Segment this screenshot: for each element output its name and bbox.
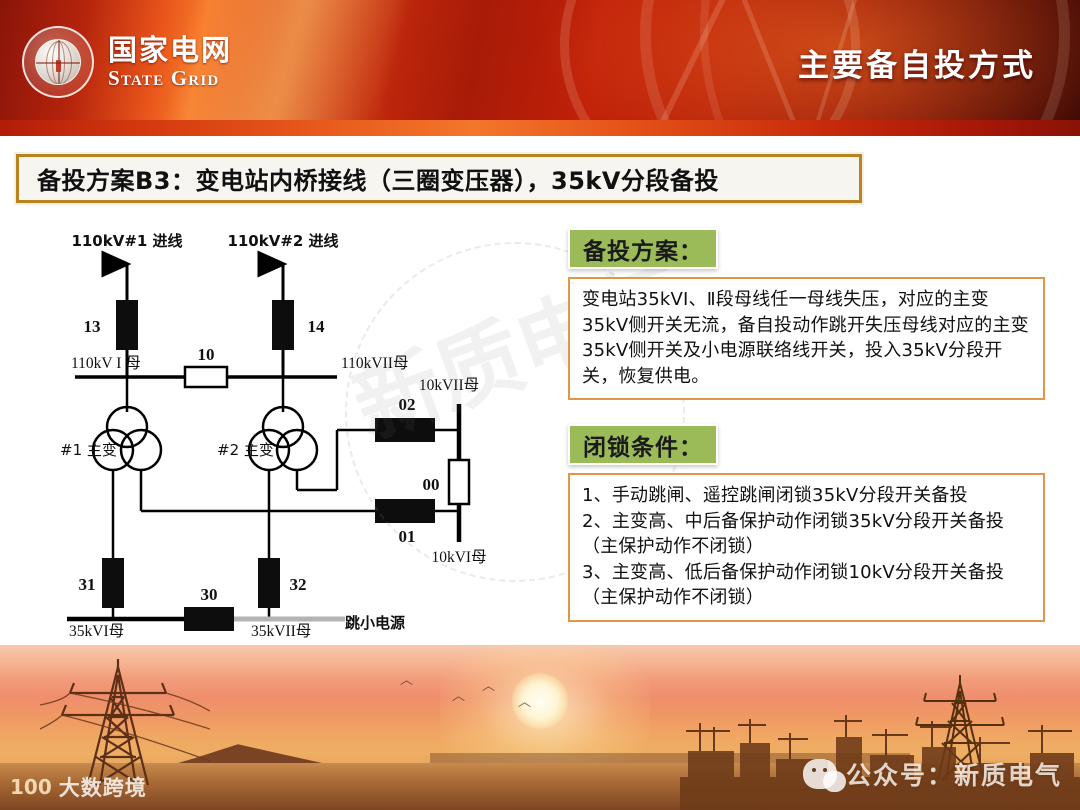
lock-content-box: 1、手动跳闸、遥控跳闸闭锁35kV分段开关备投 2、主变高、中后备保护动作闭锁3… (568, 473, 1045, 622)
breaker-label-01: 01 (399, 527, 416, 546)
plan-body-text: 变电站35kVⅠ、Ⅱ段母线任一母线失压，对应的主变35kV侧开关无流，备自投动作… (582, 287, 1031, 389)
lock-line-2: 2、主变高、中后备保护动作闭锁35kV分段开关备投（主保护动作不闭锁） (582, 509, 1031, 560)
breaker-14 (272, 300, 294, 350)
bird-icon-1: ︿ (400, 669, 413, 688)
header-title: 主要备自投方式 (798, 40, 1036, 85)
state-grid-emblem-icon (22, 26, 94, 98)
label-bus-10-I: 10kVI母 (431, 549, 486, 566)
breaker-00 (449, 460, 469, 504)
lock-line-1: 1、手动跳闸、遥控跳闸闭锁35kV分段开关备投 (582, 483, 1031, 509)
diagram-canvas: 13 14 10 02 00 01 31 30 32 110kV#1 进线 11… (45, 222, 540, 640)
label-bus-110-I: 110kV I 母 (71, 355, 141, 372)
label-transformer-1: #1 主变 (60, 441, 117, 459)
logo-english-name: State Grid (108, 68, 232, 89)
breaker-label-13: 13 (84, 317, 101, 336)
header-banner: 国家电网 State Grid 主要备自投方式 (0, 0, 1080, 120)
watermark-right-text: 公众号：新质电气 (846, 756, 1062, 792)
breaker-label-31: 31 (79, 575, 96, 594)
breaker-10 (185, 367, 227, 387)
slide-root: 国家电网 State Grid 主要备自投方式 备投方案B3：变电站内桥接线（三… (0, 0, 1080, 810)
label-bus-35-I: 35kVI母 (69, 623, 124, 640)
breaker-label-02: 02 (399, 395, 416, 414)
breaker-label-10: 10 (198, 345, 215, 364)
single-line-diagram: 新质电气 (45, 222, 540, 640)
watermark-left-text: 大数跨境 (59, 772, 147, 802)
watermark-bottom-right: 公众号：新质电气 (803, 756, 1062, 792)
bird-icon-3: ︿ (482, 675, 495, 694)
lock-tag-header: 闭锁条件： (568, 424, 718, 465)
breaker-13 (116, 300, 138, 350)
breaker-label-14: 14 (308, 317, 326, 336)
breaker-01 (375, 499, 435, 523)
plan-content-box: 变电站35kVⅠ、Ⅱ段母线任一母线失压，对应的主变35kV侧开关无流，备自投动作… (568, 277, 1045, 400)
breaker-label-32: 32 (290, 575, 307, 594)
bird-icon-2: ︿ (452, 685, 465, 704)
watermark-bottom-left: 100 大数跨境 (10, 772, 147, 802)
label-bus-110-II: 110kVII母 (341, 355, 408, 372)
label-incoming-1: 110kV#1 进线 (71, 232, 182, 250)
breaker-31 (102, 558, 124, 608)
label-small-source: 跳小电源 (345, 614, 405, 632)
breaker-02 (375, 418, 435, 442)
breaker-label-30: 30 (201, 585, 218, 604)
transformer-2-winding-lv (277, 430, 317, 470)
header-accent-strip (0, 120, 1080, 136)
label-transformer-2: #2 主变 (217, 441, 274, 459)
watermark-left-logo: 100 (10, 775, 52, 799)
breaker-30 (184, 607, 234, 631)
state-grid-logo-text: 国家电网 State Grid (108, 36, 232, 89)
label-incoming-2: 110kV#2 进线 (227, 232, 338, 250)
lock-line-3: 3、主变高、低后备保护动作闭锁10kV分段开关备投（主保护动作不闭锁） (582, 560, 1031, 611)
transformer-1-winding-lv (121, 430, 161, 470)
breaker-32 (258, 558, 280, 608)
wechat-icon (803, 759, 837, 789)
logo-chinese-name: 国家电网 (108, 36, 232, 65)
label-bus-10-II: 10kVII母 (419, 377, 479, 394)
bird-icon-4: ︿ (518, 691, 531, 710)
breaker-label-00: 00 (423, 475, 440, 494)
slide-title-text: 备投方案B3：变电站内桥接线（三圈变压器），35kV分段备投 (19, 161, 719, 196)
label-bus-35-II: 35kVII母 (251, 623, 311, 640)
state-grid-logo: 国家电网 State Grid (22, 26, 232, 98)
slide-title-box: 备投方案B3：变电站内桥接线（三圈变压器），35kV分段备投 (16, 154, 862, 203)
plan-tag-header: 备投方案： (568, 228, 718, 269)
